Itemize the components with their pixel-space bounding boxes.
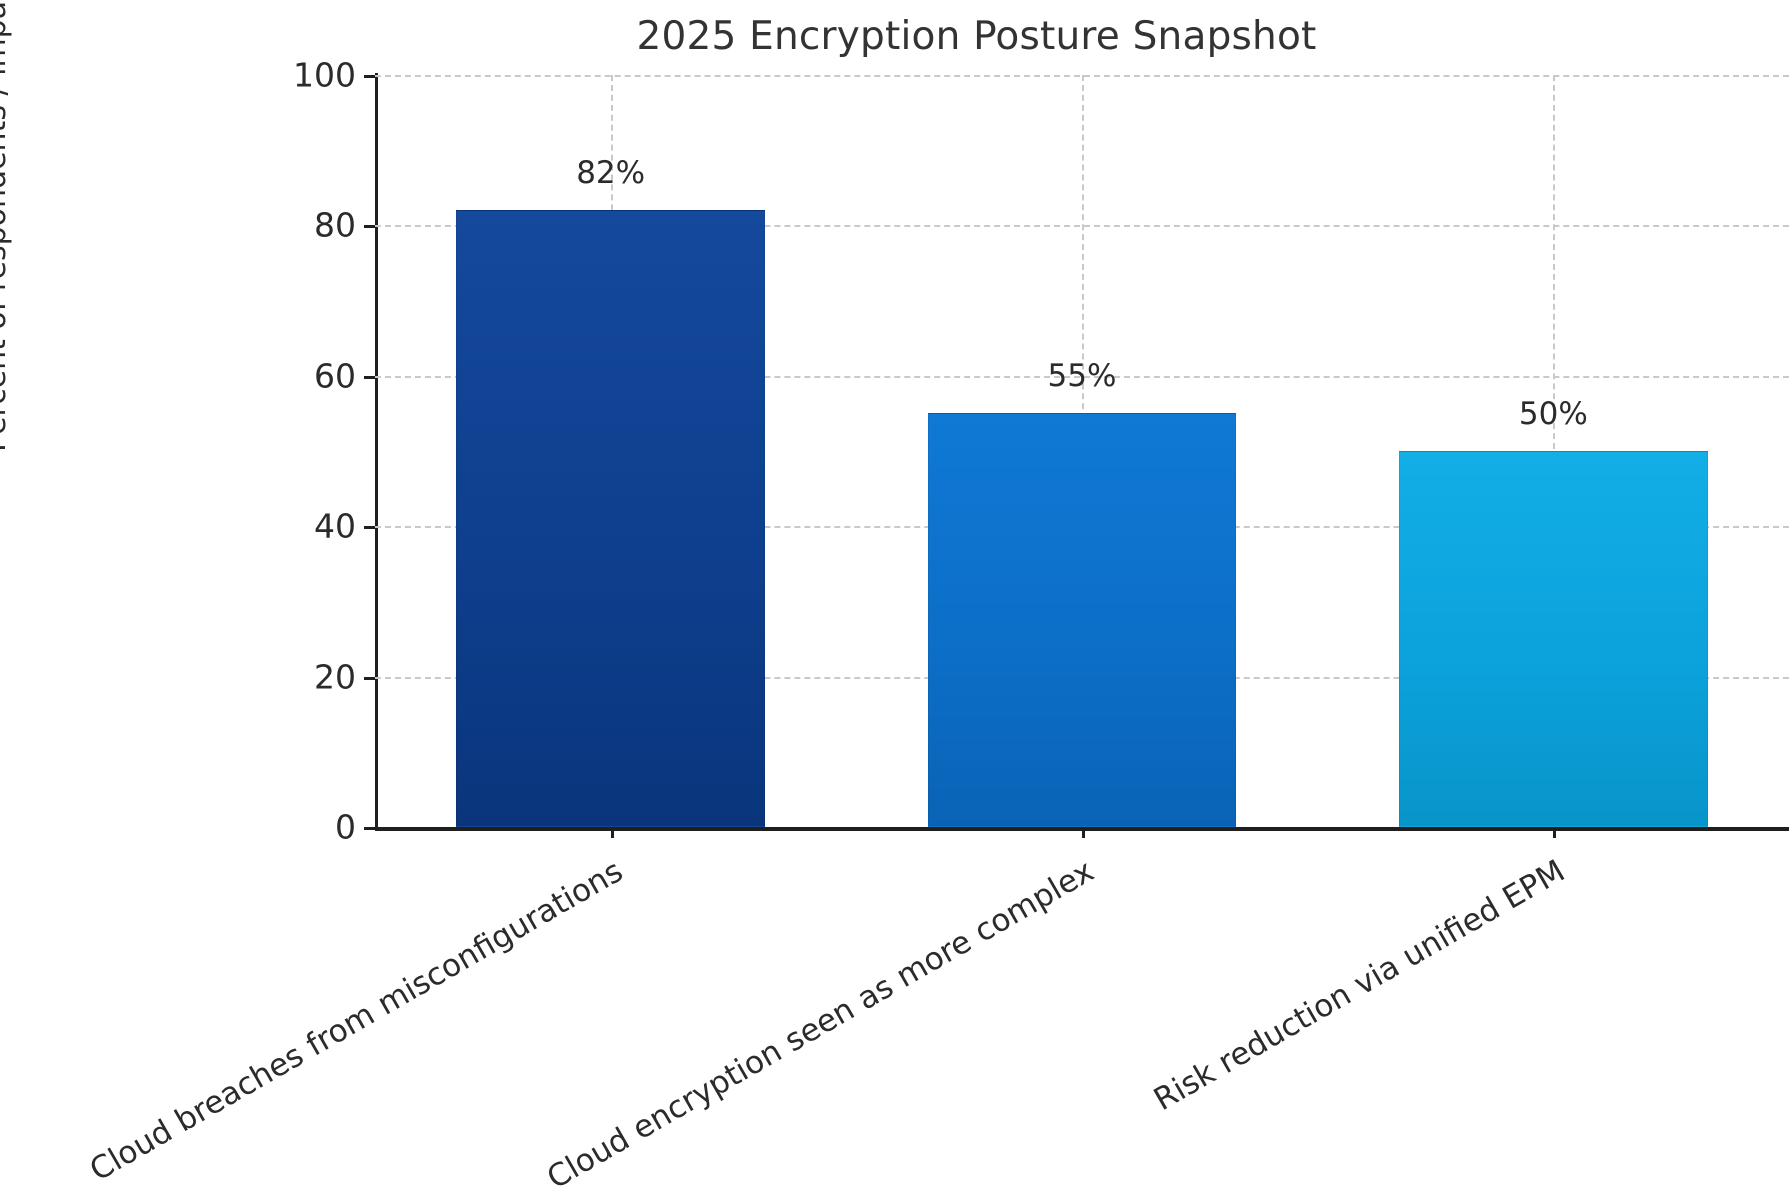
x-tick-label: Cloud encryption seen as more complex <box>528 853 1100 1204</box>
y-tick-label: 20 <box>236 657 356 696</box>
bar-value-label: 50% <box>1519 396 1588 432</box>
y-tick-mark <box>364 75 375 78</box>
plot-area: 82%55%50% <box>375 75 1789 827</box>
chart-title-text: 2025 Encryption Posture Snapshot <box>636 14 1316 59</box>
y-tick-mark <box>364 225 375 228</box>
x-tick-label: Cloud breaches from misconfigurations <box>56 853 628 1204</box>
y-tick-label: 80 <box>236 206 356 245</box>
bar-value-label: 55% <box>1048 358 1117 394</box>
chart-figure: 2025 Encryption Posture Snapshot Percent… <box>0 0 1789 1180</box>
bar[interactable] <box>928 413 1237 827</box>
x-tick-label: Risk reduction via unified EPM <box>999 853 1571 1204</box>
chart-title: 2025 Encryption Posture Snapshot <box>0 14 1789 59</box>
y-tick-label: 40 <box>236 507 356 546</box>
bar[interactable] <box>456 210 765 827</box>
y-tick-mark <box>364 827 375 830</box>
x-tick-mark <box>611 827 614 838</box>
bar[interactable] <box>1399 451 1708 827</box>
y-axis-title: Percent of respondents / impact <box>0 0 13 452</box>
bar-value-label: 82% <box>576 155 645 191</box>
y-tick-mark <box>364 677 375 680</box>
x-tick-mark <box>1553 827 1556 838</box>
y-tick-label: 0 <box>236 808 356 847</box>
x-tick-mark <box>1082 827 1085 838</box>
y-tick-mark <box>364 526 375 529</box>
y-tick-label: 100 <box>236 56 356 95</box>
y-tick-label: 60 <box>236 356 356 395</box>
y-tick-mark <box>364 376 375 379</box>
